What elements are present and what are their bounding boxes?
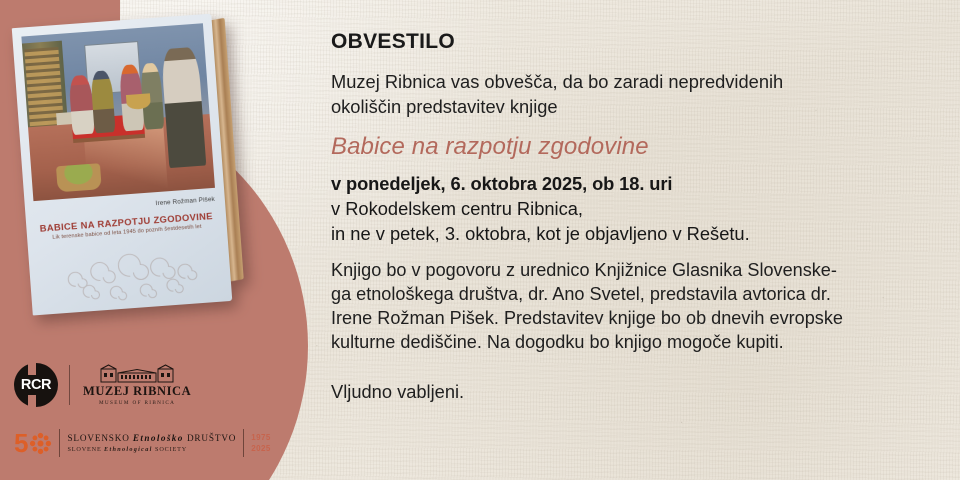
notice-heading: OBVESTILO <box>331 30 943 53</box>
logo-row-sed: 5 SLOVENSKO <box>14 426 284 460</box>
rcr-notch-bottom-icon <box>28 395 36 407</box>
sed-anniversary-mark: 5 <box>14 430 52 456</box>
book-3d: Irene Rožman Pišek BABICE NA RAZPOTJU ZG… <box>12 13 248 316</box>
sed-year-from: 1975 <box>251 434 270 442</box>
museum-logo: MUZEJ RIBNICA MUSEUM OF RIBNICA <box>81 364 191 406</box>
poster-canvas: Irene Rožman Pišek BABICE NA RAZPOTJU ZG… <box>0 0 960 480</box>
sed-slovene-prefix: SLOVENSKO <box>67 433 132 443</box>
book-mockup: Irene Rožman Pišek BABICE NA RAZPOTJU ZG… <box>14 14 294 314</box>
book-front-cover: Irene Rožman Pišek BABICE NA RAZPOTJU ZG… <box>12 14 233 316</box>
cover-spiral-ornament <box>53 237 207 310</box>
sed-name-block: SLOVENSKO Etnološko DRUŠTVO SLOVENE Ethn… <box>67 433 236 453</box>
sed-slovene-suffix: DRUŠTVO <box>184 433 237 443</box>
notice-body-line-4: kulturne dediščine. Na dogodku bo knjigo… <box>331 330 943 354</box>
notice-body-line-2: ga etnološkega društva, dr. Ano Svetel, … <box>331 282 943 306</box>
sed-english-suffix: SOCIETY <box>153 446 187 453</box>
sed-year-to: 2025 <box>251 445 270 453</box>
sed-english-prefix: SLOVENE <box>67 446 104 453</box>
logo-row-primary: RCR <box>14 360 284 410</box>
notice-intro-line-1: Muzej Ribnica vas obvešča, da bo zaradi … <box>331 70 943 95</box>
rcr-notch-top-icon <box>28 363 36 375</box>
notice-body: Knjigo bo v pogovoru z urednico Knjižnic… <box>331 258 943 354</box>
sed-name-slovene: SLOVENSKO Etnološko DRUŠTVO <box>67 433 236 443</box>
museum-name: MUZEJ RIBNICA <box>83 385 191 398</box>
cover-illustration <box>21 23 215 201</box>
rcr-logo-text: RCR <box>14 377 58 393</box>
sed-name-english: SLOVENE Ethnological SOCIETY <box>67 446 236 453</box>
notice-event-correction: in ne v petek, 3. oktobra, kot je objavl… <box>331 221 943 246</box>
illustration-basket <box>56 163 101 193</box>
museum-building-icon <box>100 364 174 383</box>
notice-body-line-3: Irene Rožman Pišek. Predstavitev knjige … <box>331 306 943 330</box>
notice-body-line-1: Knjigo bo v pogovoru z urednico Knjižnic… <box>331 258 943 282</box>
rcr-logo: RCR <box>14 363 58 407</box>
sed-anniversary-number: 5 <box>14 430 28 456</box>
sed-divider-left <box>59 429 60 457</box>
notice-intro: Muzej Ribnica vas obvešča, da bo zaradi … <box>331 70 943 119</box>
sed-english-emphasis: Ethnological <box>104 446 153 453</box>
notice-event-datetime: v ponedeljek, 6. oktobra 2025, ob 18. ur… <box>331 171 943 196</box>
notice-content: OBVESTILO Muzej Ribnica vas obvešča, da … <box>331 30 943 404</box>
notice-event-details: v ponedeljek, 6. oktobra 2025, ob 18. ur… <box>331 171 943 246</box>
logo-divider <box>69 365 70 405</box>
sed-slovene-emphasis: Etnološko <box>133 433 184 443</box>
sed-anniversary-years: 1975 2025 <box>251 434 270 453</box>
logo-bar: RCR <box>14 360 284 460</box>
notice-intro-line-2: okoliščin predstavitev knjige <box>331 95 943 120</box>
notice-closing: Vljudno vabljeni. <box>331 380 943 404</box>
museum-subtitle: MUSEUM OF RIBNICA <box>83 400 191 406</box>
notice-book-title: Babice na razpotju zgodovine <box>331 134 943 160</box>
sed-divider-right <box>243 429 244 457</box>
flower-ornament-icon <box>29 432 52 455</box>
notice-event-venue: v Rokodelskem centru Ribnica, <box>331 196 943 221</box>
